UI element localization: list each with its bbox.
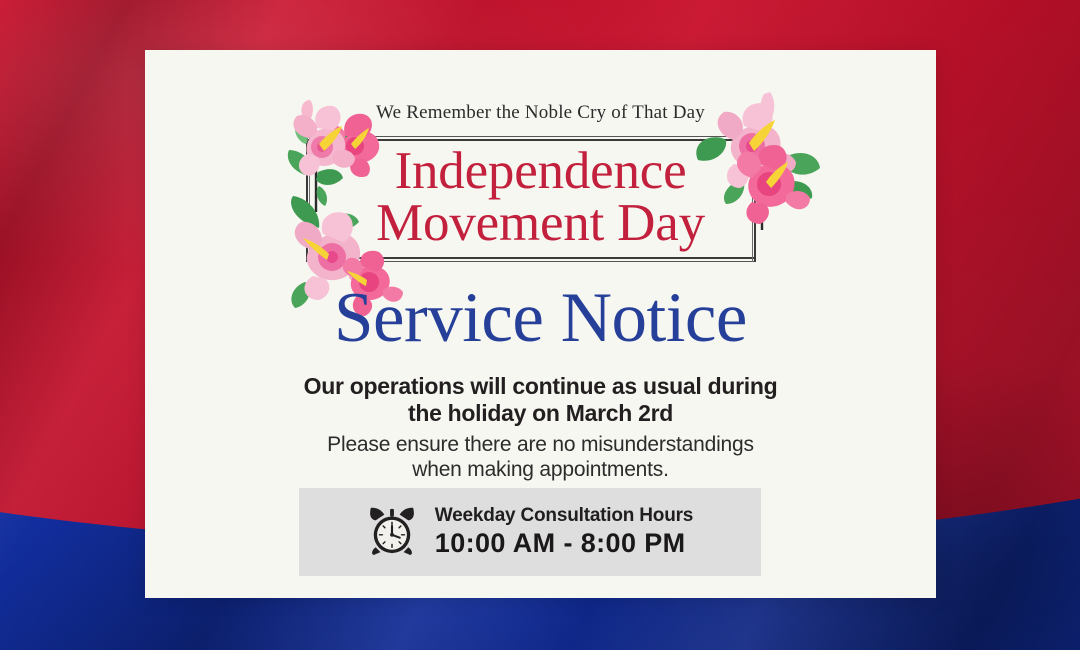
consultation-hours-panel: Weekday Consultation Hours 10:00 AM - 8:… (299, 488, 761, 576)
holiday-title-line-1: Independence (395, 142, 687, 200)
alarm-clock-icon (367, 504, 417, 561)
frame-line-bottom-outer (306, 261, 756, 262)
notice-card: We Remember the Noble Cry of That Day In… (145, 50, 936, 598)
consultation-hours-text: Weekday Consultation Hours 10:00 AM - 8:… (435, 504, 693, 560)
consultation-hours-label: Weekday Consultation Hours (435, 504, 693, 528)
notice-body: Our operations will continue as usual du… (175, 373, 906, 482)
notice-body-strong-line-2: the holiday on March 2rd (175, 400, 906, 427)
frame-line-bottom-inner (306, 257, 756, 259)
notice-body-sub-line-2: when making appointments. (175, 458, 906, 483)
holiday-title-line-2: Movement Day (145, 198, 936, 250)
notice-body-strong-line-1: Our operations will continue as usual du… (175, 373, 906, 400)
page-title: Service Notice (145, 283, 936, 354)
poster-canvas: We Remember the Noble Cry of That Day In… (0, 0, 1080, 650)
notice-body-strong: Our operations will continue as usual du… (175, 373, 906, 427)
holiday-title: Independence Movement Day (145, 146, 936, 250)
frame-line-top-outer (306, 136, 756, 137)
frame-line-top-inner (306, 139, 756, 141)
consultation-hours-value: 10:00 AM - 8:00 PM (435, 528, 693, 560)
eyebrow-text: We Remember the Noble Cry of That Day (145, 102, 936, 124)
notice-body-sub: Please ensure there are no misunderstand… (175, 433, 906, 482)
notice-body-sub-line-1: Please ensure there are no misunderstand… (175, 433, 906, 458)
